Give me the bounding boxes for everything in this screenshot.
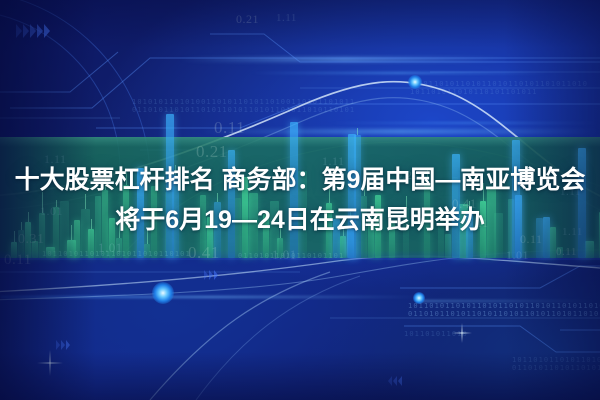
banner-image: 0.110.211.111.010.310.111.010.411.011.11… (0, 0, 600, 400)
headline-line-1: 十大股票杠杆排名 商务部：第9届中国—南亚博览会 (0, 160, 600, 200)
headline: 十大股票杠杆排名 商务部：第9届中国—南亚博览会 将于6月19—24日在云南昆明… (0, 160, 600, 240)
headline-line-2: 将于6月19—24日在云南昆明举办 (0, 200, 600, 240)
